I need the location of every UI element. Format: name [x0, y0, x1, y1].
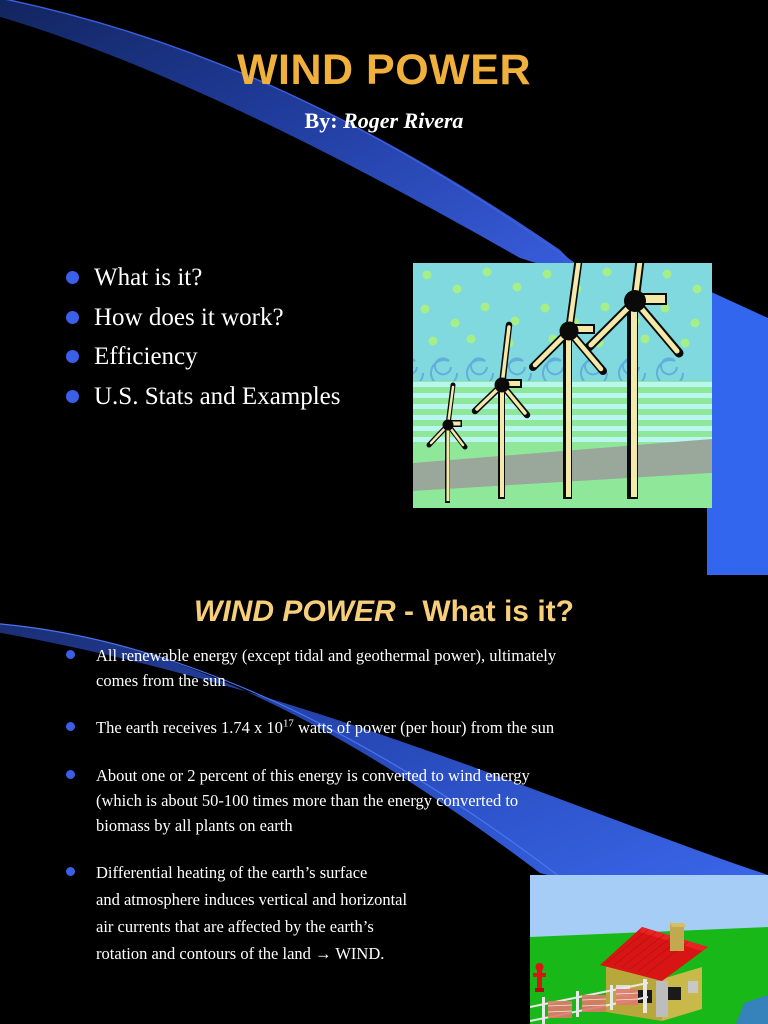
wind-turbines-clipart-image — [413, 263, 712, 508]
list-item-line: and atmosphere induces vertical and hori… — [96, 890, 407, 909]
bullet-dot-icon — [66, 770, 75, 779]
bullet-dot-icon — [66, 867, 75, 876]
bullet-dot-icon — [66, 350, 79, 363]
page-title-rest: - What is it? — [396, 595, 574, 628]
list-item: Efficiency — [60, 339, 390, 375]
list-item-line: biomass by all plants on earth — [96, 816, 293, 835]
list-item-line: rotation and contours of the land → WIND… — [96, 944, 384, 963]
list-item-label: What is it? — [94, 264, 202, 291]
list-item-label: How does it work? — [94, 304, 284, 331]
list-item-suffix: watts of power (per hour) from the sun — [294, 718, 554, 737]
page-title: WIND POWER — [0, 46, 768, 95]
presentation-page: WIND POWER By: Roger Rivera What is it? … — [0, 0, 768, 1024]
byline: By: Roger Rivera — [0, 108, 768, 134]
list-item-label: U.S. Stats and Examples — [94, 383, 341, 410]
list-item: All renewable energy (except tidal and g… — [58, 643, 708, 693]
bullet-dot-icon — [66, 650, 75, 659]
list-item: About one or 2 percent of this energy is… — [58, 763, 708, 839]
bullet-dot-icon — [66, 311, 79, 324]
list-item: What is it? — [60, 260, 390, 296]
list-item: How does it work? — [60, 300, 390, 336]
slide-1-title-slide: WIND POWER By: Roger Rivera What is it? … — [0, 0, 768, 575]
house-3d-render-image — [530, 875, 768, 1024]
blue-accent-block-upper — [707, 290, 768, 456]
byline-prefix: By: — [305, 108, 338, 133]
swoosh-hairline — [0, 0, 600, 282]
slide-1-agenda-list: What is it? How does it work? Efficiency… — [60, 260, 390, 418]
list-item-prefix: The earth receives 1.74 x 10 — [96, 718, 283, 737]
list-item: The earth receives 1.74 x 1017 watts of … — [58, 715, 708, 740]
list-item-line: About one or 2 percent of this energy is… — [96, 766, 530, 785]
list-item: U.S. Stats and Examples — [60, 379, 390, 415]
list-item-line: Differential heating of the earth’s surf… — [96, 863, 367, 882]
list-item-label: Efficiency — [94, 343, 198, 370]
list-item-line: comes from the sun — [96, 671, 226, 690]
bullet-dot-icon — [66, 722, 75, 731]
exponent: 17 — [283, 718, 294, 730]
page-title-emphasis: WIND POWER — [194, 595, 396, 628]
list-item-line: All renewable energy (except tidal and g… — [96, 646, 556, 665]
page-title-2: WIND POWER - What is it? — [0, 595, 768, 629]
list-item-line: (which is about 50-100 times more than t… — [96, 791, 518, 810]
bullet-dot-icon — [66, 390, 79, 403]
swoosh-wedge — [0, 0, 590, 280]
byline-author: Roger Rivera — [343, 108, 463, 133]
list-item-line: air currents that are affected by the ea… — [96, 917, 374, 936]
bullet-dot-icon — [66, 271, 79, 284]
